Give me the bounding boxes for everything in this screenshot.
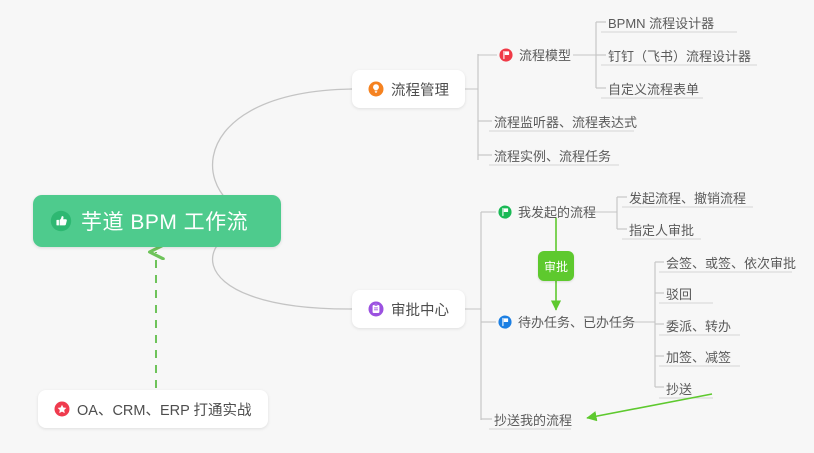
lightbulb-icon bbox=[368, 81, 384, 97]
node-dingtalk-designer-label: 钉钉（飞书）流程设计器 bbox=[608, 50, 751, 63]
node-delegate-label: 委派、转办 bbox=[666, 320, 731, 333]
node-cc-to-me-label: 抄送我的流程 bbox=[494, 414, 572, 427]
mindmap-canvas: 待办任务 --> 抄送我的流程 --> root --> 芋道 BPM 工作流 bbox=[0, 0, 814, 453]
node-flow-listener-label: 流程监听器、流程表达式 bbox=[494, 116, 637, 129]
node-cc-label: 抄送 bbox=[666, 383, 692, 396]
edge-flow-bus bbox=[463, 54, 478, 160]
flag-blue-icon bbox=[498, 315, 512, 329]
node-reject[interactable]: 驳回 bbox=[664, 282, 696, 306]
floating-note-label: OA、CRM、ERP 打通实战 bbox=[77, 399, 252, 420]
node-multi-sign-label: 会签、或签、依次审批 bbox=[666, 257, 796, 270]
node-flow-instance-label: 流程实例、流程任务 bbox=[494, 150, 611, 163]
node-todo-done[interactable]: 待办任务、已办任务 bbox=[496, 310, 639, 334]
branch-node-flow-management[interactable]: 流程管理 bbox=[352, 70, 465, 108]
edge-approval-bus bbox=[463, 212, 481, 420]
node-add-remove-sign[interactable]: 加签、减签 bbox=[664, 345, 735, 369]
flag-red-icon bbox=[499, 48, 513, 62]
node-cc-to-me[interactable]: 抄送我的流程 bbox=[492, 408, 576, 432]
node-my-started[interactable]: 我发起的流程 bbox=[496, 200, 600, 224]
node-custom-form-label: 自定义流程表单 bbox=[608, 83, 699, 96]
thumbs-up-icon bbox=[50, 210, 72, 232]
node-flow-listener[interactable]: 流程监听器、流程表达式 bbox=[492, 110, 641, 134]
node-assignee-approval[interactable]: 指定人审批 bbox=[627, 218, 698, 242]
clipboard-icon bbox=[368, 301, 384, 317]
node-start-cancel[interactable]: 发起流程、撤销流程 bbox=[627, 186, 750, 210]
node-flow-instance[interactable]: 流程实例、流程任务 bbox=[492, 144, 615, 168]
relation-label-approval[interactable]: 审批 bbox=[538, 251, 574, 281]
node-bpmn-designer-label: BPMN 流程设计器 bbox=[608, 17, 714, 30]
node-todo-done-label: 待办任务、已办任务 bbox=[518, 316, 635, 329]
root-node-label: 芋道 BPM 工作流 bbox=[81, 206, 248, 236]
root-node[interactable]: 芋道 BPM 工作流 bbox=[33, 195, 281, 247]
node-my-started-label: 我发起的流程 bbox=[518, 206, 596, 219]
node-delegate[interactable]: 委派、转办 bbox=[664, 314, 735, 338]
node-bpmn-designer[interactable]: BPMN 流程设计器 bbox=[606, 11, 718, 35]
node-custom-form[interactable]: 自定义流程表单 bbox=[606, 77, 703, 101]
star-icon bbox=[54, 401, 70, 417]
node-reject-label: 驳回 bbox=[666, 288, 692, 301]
branch-node-approval-center[interactable]: 审批中心 bbox=[352, 290, 465, 328]
node-cc[interactable]: 抄送 bbox=[664, 377, 696, 401]
node-dingtalk-designer[interactable]: 钉钉（飞书）流程设计器 bbox=[606, 44, 755, 68]
node-flow-model-label: 流程模型 bbox=[519, 49, 571, 62]
relation-label-text: 审批 bbox=[544, 258, 568, 275]
node-add-remove-sign-label: 加签、减签 bbox=[666, 351, 731, 364]
node-start-cancel-label: 发起流程、撤销流程 bbox=[629, 192, 746, 205]
node-assignee-approval-label: 指定人审批 bbox=[629, 224, 694, 237]
edge-model-bus bbox=[573, 22, 596, 88]
floating-note-node[interactable]: OA、CRM、ERP 打通实战 bbox=[38, 390, 268, 428]
node-multi-sign[interactable]: 会签、或签、依次审批 bbox=[664, 251, 800, 275]
node-flow-model[interactable]: 流程模型 bbox=[497, 43, 575, 67]
branch-node-flow-management-label: 流程管理 bbox=[391, 79, 449, 100]
branch-node-approval-center-label: 审批中心 bbox=[391, 299, 449, 320]
flag-green-icon bbox=[498, 205, 512, 219]
